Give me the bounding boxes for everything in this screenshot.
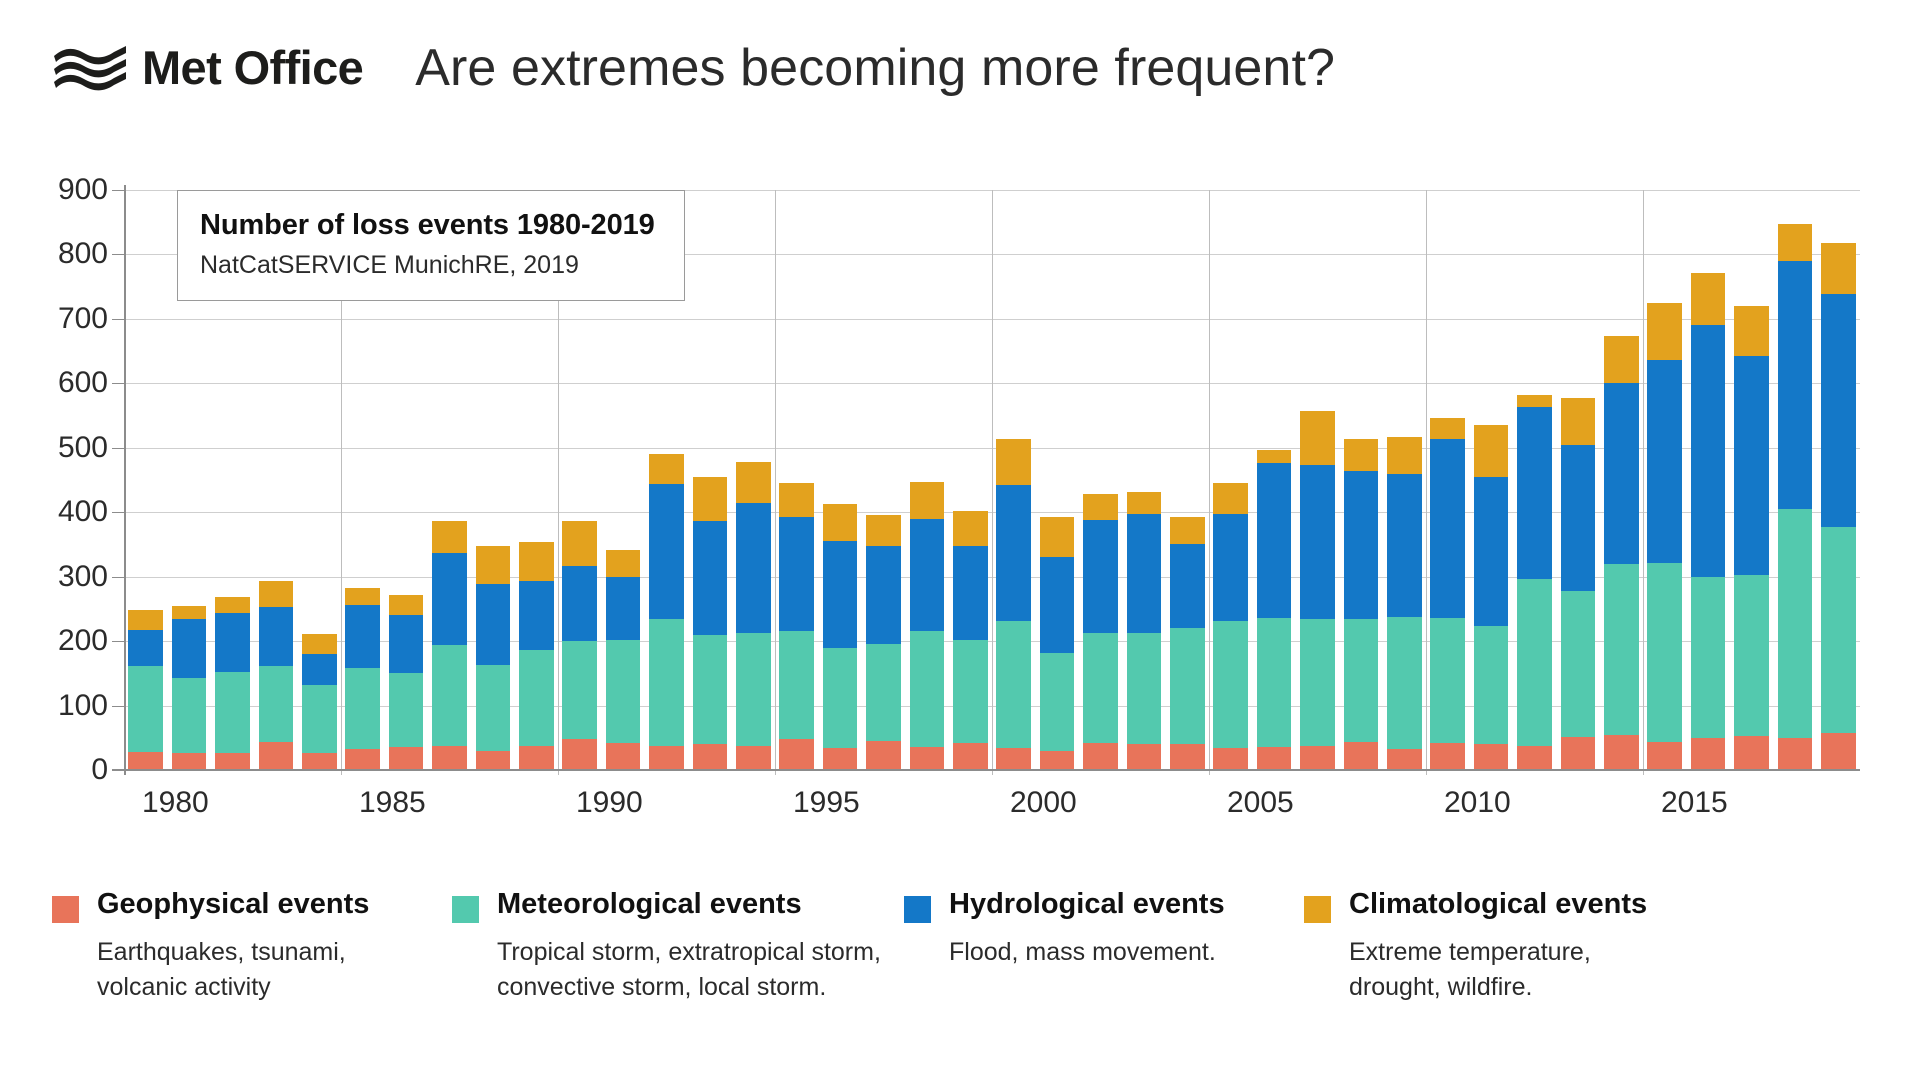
bar-segment: [693, 635, 728, 745]
bar-group[interactable]: [1040, 517, 1075, 770]
bar-group[interactable]: [866, 515, 901, 770]
met-office-logo-text: Met Office: [142, 40, 363, 95]
bar-group[interactable]: [302, 634, 337, 770]
bar-segment: [1213, 514, 1248, 620]
bar-segment: [953, 640, 988, 743]
bar-segment: [953, 743, 988, 770]
page-header: Met Office Are extremes becoming more fr…: [0, 0, 1920, 135]
y-axis-tick-label: 0: [36, 753, 108, 787]
bar-segment: [953, 511, 988, 546]
bar-group[interactable]: [128, 610, 163, 770]
bar-segment: [693, 477, 728, 520]
bar-segment: [1734, 736, 1769, 770]
bar-segment: [519, 581, 554, 651]
bar-segment: [649, 619, 684, 745]
bar-segment: [910, 482, 945, 519]
bar-segment: [1257, 463, 1292, 618]
bar-segment: [606, 550, 641, 577]
bar-segment: [1430, 743, 1465, 770]
y-axis-tick-mark: [112, 706, 124, 707]
legend-item[interactable]: Hydrological eventsFlood, mass movement.: [904, 890, 1304, 1070]
bar-group[interactable]: [1387, 437, 1422, 770]
x-axis-tick-label: 2000: [1010, 786, 1077, 820]
bar-segment: [432, 553, 467, 645]
y-axis-tick-label: 200: [36, 624, 108, 658]
bar-segment: [736, 633, 771, 746]
bar-segment: [1691, 273, 1726, 325]
bar-group[interactable]: [606, 550, 641, 770]
bar-group[interactable]: [1561, 398, 1596, 770]
bar-segment: [1647, 742, 1682, 770]
y-axis-tick-mark: [112, 448, 124, 449]
bar-segment: [1387, 617, 1422, 749]
bar-segment: [996, 621, 1031, 748]
bar-group[interactable]: [1300, 411, 1335, 770]
bar-segment: [476, 751, 511, 770]
bar-segment: [1083, 633, 1118, 743]
bar-segment: [1474, 477, 1509, 626]
bar-segment: [1257, 618, 1292, 747]
bar-segment: [562, 521, 597, 567]
bar-group[interactable]: [996, 439, 1031, 770]
bar-segment: [1040, 653, 1075, 751]
bar-segment: [1734, 356, 1769, 575]
bar-segment: [1127, 492, 1162, 514]
bar-segment: [1647, 563, 1682, 742]
bar-segment: [693, 744, 728, 770]
bar-group[interactable]: [1083, 494, 1118, 770]
bar-segment: [302, 685, 337, 753]
x-gridline: [1643, 190, 1644, 775]
bar-segment: [389, 615, 424, 672]
bar-segment: [823, 648, 858, 749]
bar-segment: [1170, 628, 1205, 744]
bar-group[interactable]: [1734, 306, 1769, 770]
bar-segment: [562, 641, 597, 739]
legend-item-label: Hydrological events: [949, 890, 1225, 919]
legend-item-description: Extreme temperature, drought, wildfire.: [1349, 935, 1647, 1004]
bar-segment: [172, 606, 207, 618]
bar-segment: [1040, 517, 1075, 557]
bar-segment: [1734, 306, 1769, 356]
bar-segment: [1517, 579, 1552, 745]
bar-segment: [1127, 514, 1162, 634]
x-gridline: [992, 190, 993, 775]
bar-segment: [1127, 744, 1162, 770]
bar-segment: [649, 746, 684, 770]
bar-segment: [1604, 735, 1639, 770]
y-axis-tick-mark: [112, 383, 124, 384]
legend-item-description: Tropical storm, extratropical storm, con…: [497, 935, 881, 1004]
bar-group[interactable]: [476, 546, 511, 770]
bar-segment: [779, 517, 814, 631]
bar-segment: [996, 748, 1031, 770]
chart-legend: Geophysical eventsEarthquakes, tsunami, …: [0, 890, 1920, 1070]
legend-item-description: Flood, mass movement.: [949, 935, 1225, 970]
y-axis-tick-label: 500: [36, 431, 108, 465]
x-axis-tick-label: 1985: [359, 786, 426, 820]
y-axis-tick-label: 800: [36, 237, 108, 271]
legend-item-label: Meteorological events: [497, 890, 881, 919]
page-title: Are extremes becoming more frequent?: [415, 38, 1335, 98]
bar-segment: [345, 605, 380, 668]
bar-segment: [1213, 621, 1248, 749]
bar-segment: [1300, 411, 1335, 465]
bar-segment: [476, 665, 511, 751]
bar-segment: [259, 607, 294, 666]
x-gridline: [775, 190, 776, 775]
bar-group[interactable]: [649, 454, 684, 770]
bar-segment: [779, 739, 814, 770]
met-office-waves-logo-icon: [52, 42, 130, 94]
bar-segment: [1170, 744, 1205, 770]
bar-segment: [562, 566, 597, 641]
bar-segment: [736, 503, 771, 633]
bar-group[interactable]: [172, 606, 207, 770]
bar-segment: [1647, 360, 1682, 562]
annotation-subtitle: NatCatSERVICE MunichRE, 2019: [200, 251, 662, 280]
bar-segment: [1387, 749, 1422, 770]
bar-segment: [693, 521, 728, 635]
legend-color-swatch: [52, 896, 79, 923]
bar-segment: [866, 546, 901, 644]
bar-segment: [1300, 465, 1335, 618]
legend-color-swatch: [904, 896, 931, 923]
met-office-logo: Met Office: [52, 40, 363, 95]
bar-segment: [128, 752, 163, 770]
legend-item-label: Geophysical events: [97, 890, 369, 919]
y-axis-tick-mark: [112, 190, 124, 191]
bar-segment: [432, 746, 467, 770]
bar-segment: [1821, 294, 1856, 527]
bar-segment: [736, 462, 771, 503]
bar-segment: [389, 673, 424, 748]
bar-segment: [823, 504, 858, 541]
bar-segment: [302, 634, 337, 654]
legend-color-swatch: [452, 896, 479, 923]
y-axis-tick-label: 100: [36, 689, 108, 723]
bar-segment: [1821, 733, 1856, 770]
bar-group[interactable]: [1517, 395, 1552, 770]
bar-segment: [1040, 557, 1075, 652]
x-axis-tick-label: 2015: [1661, 786, 1728, 820]
bar-segment: [432, 521, 467, 553]
bar-segment: [1344, 439, 1379, 471]
bar-segment: [1257, 450, 1292, 463]
bar-segment: [1344, 742, 1379, 770]
bar-group[interactable]: [910, 482, 945, 770]
bar-segment: [1561, 591, 1596, 737]
bar-segment: [910, 519, 945, 631]
bar-segment: [1213, 748, 1248, 770]
bar-segment: [1517, 395, 1552, 407]
bar-group[interactable]: [736, 462, 771, 770]
bar-segment: [649, 484, 684, 619]
bar-segment: [1474, 626, 1509, 743]
bar-group[interactable]: [823, 504, 858, 770]
bar-segment: [1691, 738, 1726, 770]
bar-segment: [606, 577, 641, 641]
bar-segment: [172, 619, 207, 678]
bar-group[interactable]: [215, 597, 250, 770]
bar-group[interactable]: [1647, 303, 1682, 770]
bar-group[interactable]: [1691, 273, 1726, 770]
bar-segment: [779, 631, 814, 739]
bar-segment: [389, 747, 424, 770]
bar-segment: [606, 640, 641, 742]
x-axis-line: [112, 769, 1860, 771]
bar-segment: [1387, 437, 1422, 474]
bar-segment: [519, 746, 554, 770]
bar-group[interactable]: [562, 521, 597, 770]
bar-segment: [1778, 261, 1813, 509]
y-axis-tick-label: 900: [36, 173, 108, 207]
legend-item-description: Earthquakes, tsunami, volcanic activity: [97, 935, 369, 1004]
bar-segment: [866, 741, 901, 770]
bar-segment: [1604, 336, 1639, 384]
bar-segment: [259, 666, 294, 742]
bar-segment: [1517, 746, 1552, 770]
bar-segment: [779, 483, 814, 517]
bar-segment: [1778, 738, 1813, 770]
x-axis-tick-label: 1990: [576, 786, 643, 820]
bar-group[interactable]: [259, 581, 294, 770]
y-axis-line: [124, 185, 126, 775]
y-axis-tick-label: 300: [36, 560, 108, 594]
bar-segment: [215, 672, 250, 753]
bar-group[interactable]: [1430, 418, 1465, 770]
bar-segment: [1344, 471, 1379, 619]
chart-annotation-box: Number of loss events 1980-2019 NatCatSE…: [177, 190, 685, 301]
x-axis-tick-label: 1980: [142, 786, 209, 820]
legend-item-label: Climatological events: [1349, 890, 1647, 919]
x-gridline: [1209, 190, 1210, 775]
bar-segment: [910, 747, 945, 770]
bar-segment: [172, 678, 207, 753]
bar-segment: [1083, 494, 1118, 520]
bar-segment: [1300, 746, 1335, 770]
bar-segment: [1821, 243, 1856, 295]
bar-segment: [1127, 633, 1162, 744]
bar-segment: [345, 668, 380, 749]
y-axis-tick-mark: [112, 254, 124, 255]
bar-group[interactable]: [519, 542, 554, 770]
bar-segment: [606, 743, 641, 770]
bar-group[interactable]: [1604, 336, 1639, 770]
bar-segment: [389, 595, 424, 615]
bar-group[interactable]: [1170, 517, 1205, 770]
bar-group[interactable]: [1344, 439, 1379, 770]
bar-segment: [172, 753, 207, 770]
bar-segment: [1691, 325, 1726, 578]
bar-segment: [1170, 544, 1205, 628]
y-axis-tick-label: 600: [36, 366, 108, 400]
bar-segment: [649, 454, 684, 484]
bar-group[interactable]: [1778, 224, 1813, 770]
y-axis-tick-mark: [112, 319, 124, 320]
bar-segment: [519, 650, 554, 745]
bar-segment: [866, 644, 901, 741]
bar-segment: [128, 610, 163, 630]
bar-segment: [1604, 564, 1639, 735]
bar-segment: [1691, 577, 1726, 738]
y-axis-tick-label: 700: [36, 302, 108, 336]
bar-group[interactable]: [432, 521, 467, 770]
bar-segment: [1604, 383, 1639, 564]
x-axis-tick-label: 1995: [793, 786, 860, 820]
bar-segment: [1257, 747, 1292, 770]
bar-group[interactable]: [693, 477, 728, 770]
bar-segment: [1083, 520, 1118, 633]
bar-segment: [866, 515, 901, 546]
bar-segment: [519, 542, 554, 581]
bar-segment: [1430, 418, 1465, 439]
bar-group[interactable]: [1474, 425, 1509, 770]
bar-segment: [1734, 575, 1769, 736]
bar-segment: [1561, 445, 1596, 591]
bar-group[interactable]: [779, 483, 814, 770]
legend-item[interactable]: Meteorological eventsTropical storm, ext…: [452, 890, 904, 1070]
bar-segment: [996, 485, 1031, 621]
bar-segment: [1647, 303, 1682, 360]
bar-segment: [1083, 743, 1118, 770]
bar-segment: [1040, 751, 1075, 770]
bar-segment: [128, 630, 163, 665]
bar-segment: [1474, 425, 1509, 478]
bar-segment: [345, 749, 380, 770]
bar-segment: [215, 753, 250, 770]
bar-segment: [1821, 527, 1856, 733]
bar-segment: [996, 439, 1031, 485]
bar-segment: [953, 546, 988, 639]
x-gridline: [1426, 190, 1427, 775]
bar-segment: [1344, 619, 1379, 742]
bar-segment: [1561, 737, 1596, 770]
bar-segment: [302, 654, 337, 685]
bar-group[interactable]: [1821, 243, 1856, 770]
bar-segment: [128, 666, 163, 752]
y-axis-tick-mark: [112, 641, 124, 642]
bar-segment: [476, 546, 511, 584]
bar-segment: [432, 645, 467, 746]
y-axis-tick-label: 400: [36, 495, 108, 529]
bar-group[interactable]: [953, 511, 988, 770]
bar-segment: [736, 746, 771, 770]
legend-item[interactable]: Climatological eventsExtreme temperature…: [1304, 890, 1704, 1070]
x-axis-tick-label: 2010: [1444, 786, 1511, 820]
y-axis-tick-mark: [112, 577, 124, 578]
bar-group[interactable]: [1127, 492, 1162, 770]
bar-segment: [562, 739, 597, 770]
bar-segment: [1778, 224, 1813, 261]
bar-segment: [1430, 439, 1465, 618]
bar-segment: [1387, 474, 1422, 617]
bar-segment: [1561, 398, 1596, 445]
bar-group[interactable]: [1257, 450, 1292, 770]
bar-segment: [910, 631, 945, 747]
y-axis-tick-mark: [112, 770, 124, 771]
bar-segment: [1300, 619, 1335, 746]
y-axis-tick-mark: [112, 512, 124, 513]
bar-segment: [215, 597, 250, 614]
bar-segment: [345, 588, 380, 605]
bar-segment: [259, 742, 294, 770]
bar-segment: [823, 748, 858, 770]
bar-segment: [1170, 517, 1205, 543]
bar-group[interactable]: [1213, 483, 1248, 770]
bar-segment: [215, 613, 250, 672]
bar-segment: [302, 753, 337, 770]
bar-segment: [1517, 407, 1552, 579]
bar-segment: [823, 541, 858, 647]
bar-segment: [476, 584, 511, 665]
bar-segment: [1474, 744, 1509, 770]
x-axis-tick-label: 2005: [1227, 786, 1294, 820]
bar-group[interactable]: [345, 588, 380, 770]
bar-segment: [1430, 618, 1465, 743]
bar-segment: [1778, 509, 1813, 738]
legend-item[interactable]: Geophysical eventsEarthquakes, tsunami, …: [52, 890, 452, 1070]
bar-group[interactable]: [389, 595, 424, 770]
bar-segment: [1213, 483, 1248, 514]
legend-color-swatch: [1304, 896, 1331, 923]
bar-segment: [259, 581, 294, 607]
annotation-title: Number of loss events 1980-2019: [200, 209, 662, 242]
